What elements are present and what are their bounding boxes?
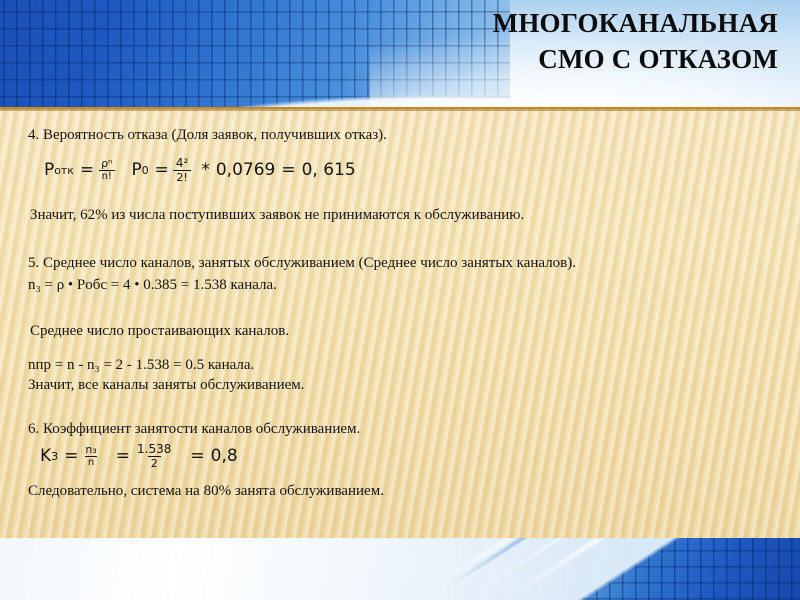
item-5-subheading: Среднее число простаивающих каналов. <box>30 321 289 341</box>
page-title-line-2: СМО С ОТКАЗОМ <box>358 42 778 78</box>
formula-6-fraction-2: 1.538 2 <box>134 443 174 469</box>
item-4-formula: Pотк = ρⁿ n! P0 = 4² 2! * 0,0769 = 0, 61… <box>44 157 356 183</box>
formula-6-fraction-1-numerator: n₃ <box>82 444 99 456</box>
item-5-formula-idle-channels: nпр = n - n₃ = 2 - 1.538 = 0.5 канала. <box>28 355 254 375</box>
formula-4-p-subscript: отк <box>54 164 74 177</box>
formula-4-fraction-1-denominator: n! <box>99 170 115 182</box>
formula-4-p0-symbol: P <box>131 160 141 180</box>
formula-4-operand: 0,0769 <box>216 160 275 180</box>
formula-4-p-symbol: P <box>44 160 54 180</box>
item-5-conclusion: Значит, все каналы заняты обслуживанием. <box>28 375 305 395</box>
formula-6-k-subscript: З <box>51 450 58 463</box>
formula-4-multiply-operator: * <box>201 160 210 180</box>
formula-4-equals-1: = <box>80 160 94 180</box>
item-4-conclusion: Значит, 62% из числа поступивших заявок … <box>30 205 524 225</box>
formula-6-equals-2: = <box>116 446 130 466</box>
formula-4-equals-3: = <box>281 160 295 180</box>
slide-content-panel: 4. Вероятность отказа (Доля заявок, полу… <box>0 107 800 538</box>
formula-4-equals-2: = <box>155 160 169 180</box>
page-title-line-1: МНОГОКАНАЛЬНАЯ <box>358 6 778 42</box>
formula-6-equals-3: = <box>190 446 204 466</box>
page-title: МНОГОКАНАЛЬНАЯ СМО С ОТКАЗОМ <box>358 6 778 77</box>
item-5-heading: 5. Среднее число каналов, занятых обслуж… <box>28 253 576 273</box>
item-6-conclusion: Следовательно, система на 80% занята обс… <box>28 481 384 501</box>
formula-6-fraction-2-denominator: 2 <box>148 456 161 469</box>
slide-footer-banner <box>0 538 800 600</box>
formula-4-fraction-1-numerator: ρⁿ <box>98 158 115 170</box>
formula-6-fraction-1: n₃ n <box>82 444 99 468</box>
formula-4-fraction-2-denominator: 2! <box>173 170 190 183</box>
presentation-slide: МНОГОКАНАЛЬНАЯ СМО С ОТКАЗОМ 4. Вероятно… <box>0 0 800 600</box>
footer-blue-grid-graphic <box>544 538 800 600</box>
formula-6-result: 0,8 <box>211 446 238 466</box>
formula-6-equals-1: = <box>64 446 78 466</box>
formula-4-fraction-2-numerator: 4² <box>173 157 191 170</box>
formula-6-k-symbol: K <box>40 446 51 466</box>
formula-6-fraction-1-denominator: n <box>85 456 97 468</box>
formula-4-result: 0, 615 <box>302 160 356 180</box>
item-6-heading: 6. Коэффициент занятости каналов обслужи… <box>28 419 360 439</box>
formula-4-fraction-1: ρⁿ n! <box>98 158 115 182</box>
item-4-heading: 4. Вероятность отказа (Доля заявок, полу… <box>28 125 387 145</box>
formula-4-p0-subscript: 0 <box>142 164 149 177</box>
item-5-formula: n₃ = ρ • Pобс = 4 • 0.385 = 1.538 канала… <box>28 275 277 295</box>
formula-4-fraction-2: 4² 2! <box>173 157 191 183</box>
item-6-formula: KЗ = n₃ n = 1.538 2 = 0,8 <box>40 443 238 469</box>
formula-6-fraction-2-numerator: 1.538 <box>134 443 174 456</box>
